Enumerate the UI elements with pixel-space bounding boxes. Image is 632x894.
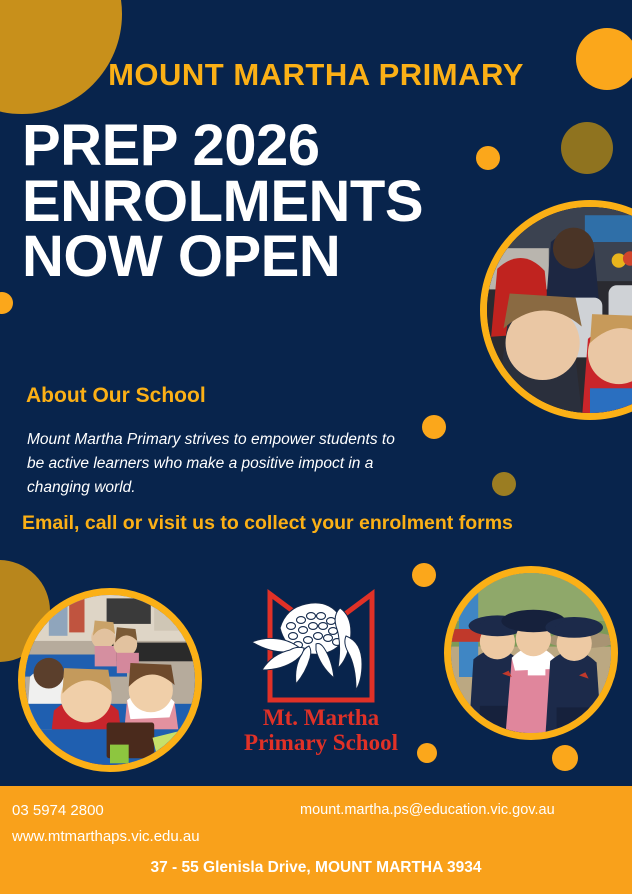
contact-email[interactable]: mount.martha.ps@education.vic.gov.au xyxy=(300,802,555,818)
school-logo-text: Mt. Martha Primary School xyxy=(228,706,414,756)
school-logo-line-1: Mt. Martha xyxy=(228,706,414,731)
decorative-dot-lower xyxy=(412,563,436,587)
enrolment-poster: MOUNT MARTHA PRIMARY PREP 2026 ENROLMENT… xyxy=(0,0,632,894)
contact-phone[interactable]: 03 5974 2800 xyxy=(12,802,104,819)
headline-line-1: PREP 2026 xyxy=(22,118,482,174)
headline-line-2: ENROLMENTS xyxy=(22,174,482,230)
banksia-flower-in-m-outline-icon xyxy=(228,588,414,708)
decorative-dot-left-edge xyxy=(0,292,13,314)
photo-classroom-laptops-image xyxy=(487,207,632,413)
about-section-title: About Our School xyxy=(26,384,206,408)
school-logo-line-2: Primary School xyxy=(228,731,414,756)
call-to-action-text: Email, call or visit us to collect your … xyxy=(22,512,513,535)
headline-line-3: NOW OPEN xyxy=(22,229,482,285)
photo-students-sun-hats-image xyxy=(451,573,611,733)
contact-footer: 03 5974 2800 www.mtmarthaps.vic.edu.au m… xyxy=(0,786,632,894)
photo-students-blue-tables xyxy=(18,588,202,772)
decorative-dot-bottom xyxy=(417,743,437,763)
school-logo: Mt. Martha Primary School xyxy=(228,588,414,766)
about-section-body: Mount Martha Primary strives to empower … xyxy=(27,428,397,500)
photo-students-blue-tables-image xyxy=(25,595,195,765)
decorative-dot-olive-mid xyxy=(492,472,516,496)
photo-classroom-laptops xyxy=(480,200,632,420)
photo-students-sun-hats xyxy=(444,566,618,740)
school-name-kicker: MOUNT MARTHA PRIMARY xyxy=(0,57,632,93)
page-title: PREP 2026 ENROLMENTS NOW OPEN xyxy=(22,118,482,285)
decorative-dot-mid xyxy=(422,415,446,439)
contact-address: 37 - 55 Glenisla Drive, MOUNT MARTHA 393… xyxy=(0,859,632,877)
decorative-dot-right-lower xyxy=(552,745,578,771)
contact-website[interactable]: www.mtmarthaps.vic.edu.au xyxy=(12,828,200,845)
decorative-circle-olive-top-right xyxy=(561,122,613,174)
